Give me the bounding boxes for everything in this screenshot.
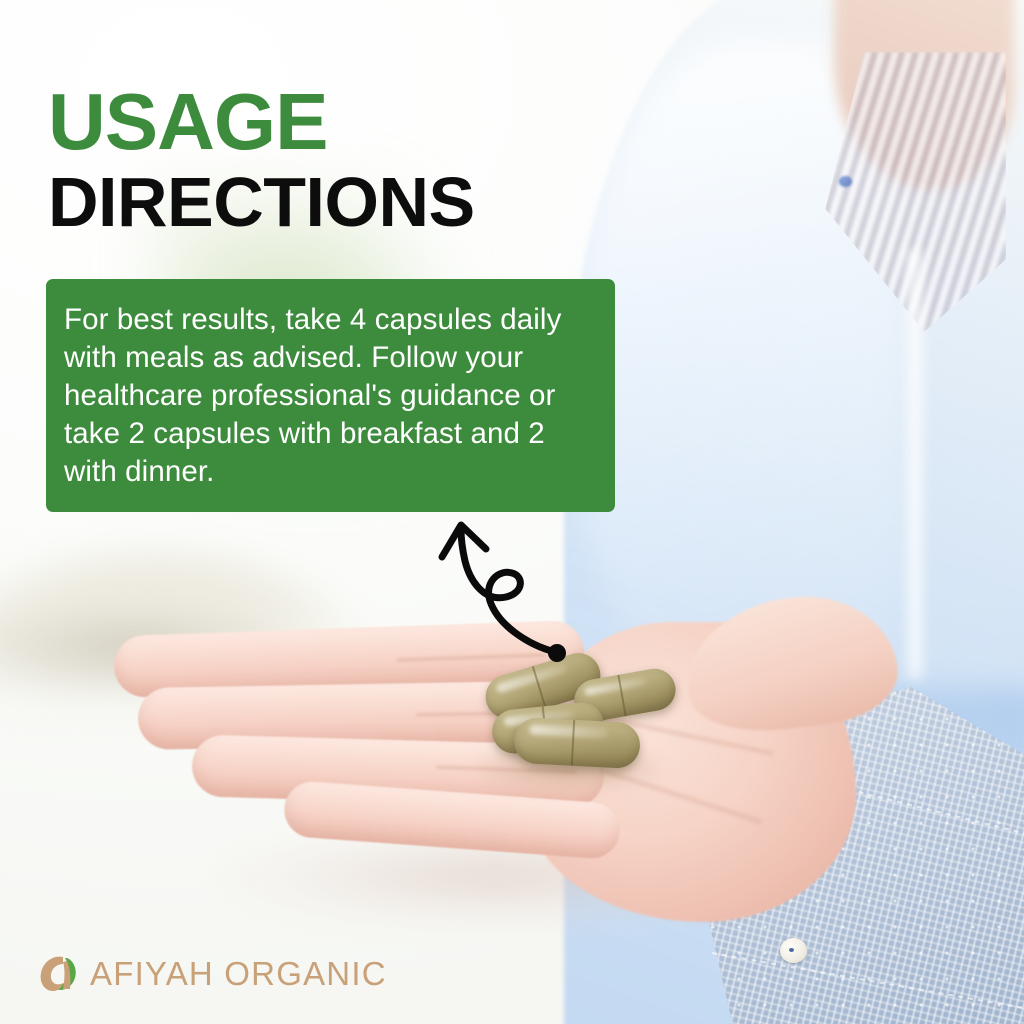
afiyah-a-leaf-mark-icon xyxy=(32,948,84,1000)
headline-line-directions: DIRECTIONS xyxy=(48,169,748,236)
collar-button xyxy=(839,176,852,187)
brand-name: AFIYAH ORGANIC xyxy=(90,955,387,993)
instructions-text: For best results, take 4 capsules daily … xyxy=(64,301,591,491)
curved-loop-arrow-icon xyxy=(428,505,608,675)
instructions-box: For best results, take 4 capsules daily … xyxy=(46,279,615,512)
page-title: USAGE DIRECTIONS xyxy=(48,84,748,236)
headline-line-usage: USAGE xyxy=(48,84,748,161)
capsule xyxy=(513,717,641,770)
brand-logo[interactable]: AFIYAH ORGANIC xyxy=(32,948,387,1000)
arrow-origin-dot xyxy=(548,644,566,662)
instruction-card: USAGE DIRECTIONS For best results, take … xyxy=(0,0,1024,1024)
shirt-placket xyxy=(902,250,928,680)
